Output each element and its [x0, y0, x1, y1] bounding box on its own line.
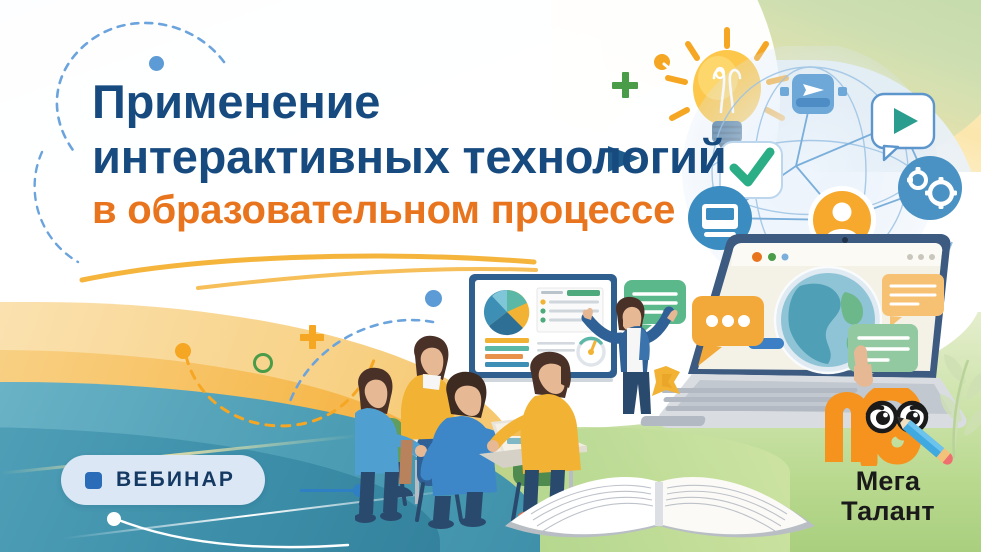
- decor-green-ring: [253, 353, 273, 373]
- page-title: Применение интерактивных технологий в об…: [92, 74, 812, 236]
- webinar-banner: Применение интерактивных технологий в об…: [0, 0, 981, 552]
- brand-logo[interactable]: Мега Талант: [813, 388, 963, 526]
- blue-square-icon: [85, 472, 102, 489]
- mt-monogram-with-glasses-and-pencil-icon: [813, 388, 963, 466]
- speech-bubble-orange-dots: [692, 296, 764, 366]
- webinar-badge-label: ВЕБИНАР: [116, 468, 235, 492]
- title-line-1: Применение: [92, 74, 812, 129]
- decor-orange-plus-icon: [300, 325, 324, 349]
- dashed-arc-orange-icon: [180, 350, 380, 440]
- title-line-3: в образовательном процессе: [92, 184, 812, 236]
- decor-blue-dot: [149, 56, 164, 71]
- open-book: [495, 430, 825, 552]
- decor-blue-line: [300, 489, 356, 492]
- logo-name-line-1: Мега: [813, 466, 963, 496]
- gears-settings-icon: [898, 156, 962, 220]
- decor-white-curve: [112, 515, 352, 552]
- title-line-2: интерактивных технологий: [92, 129, 812, 184]
- logo-name-line-2: Талант: [813, 496, 963, 526]
- webinar-badge[interactable]: ВЕБИНАР: [61, 455, 265, 505]
